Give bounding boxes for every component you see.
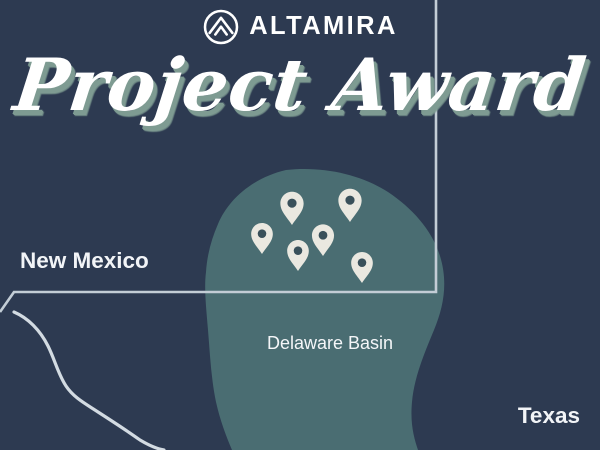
- delaware-basin-shape: [205, 169, 444, 450]
- state-label-texas: Texas: [518, 405, 580, 428]
- project-award-graphic: ALTAMIRA Project Award New Mexico Texas …: [0, 0, 600, 450]
- border-rio-grande: [14, 312, 164, 450]
- state-label-new-mexico: New Mexico: [20, 250, 149, 273]
- basin-label: Delaware Basin: [0, 334, 600, 352]
- map-layer: [0, 0, 600, 450]
